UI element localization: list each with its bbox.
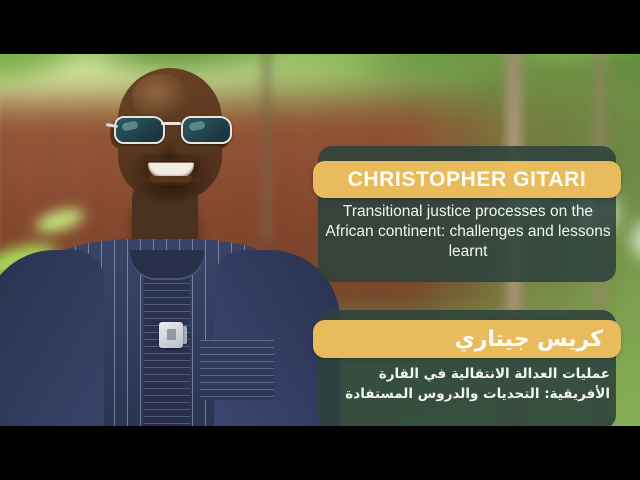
upper-lip: [148, 161, 194, 163]
speaker-name-bar-english: CHRISTOPHER GITARI: [313, 161, 621, 198]
letterbox-top-bar: [0, 0, 640, 54]
lens-glint-left: [121, 120, 138, 131]
microphone-grille: [167, 329, 176, 340]
shoulder-left: [0, 250, 104, 426]
pocket-ribbing: [200, 340, 274, 400]
video-frame[interactable]: CHRISTOPHER GITARI Transitional justice …: [0, 54, 640, 426]
chin-shadow: [136, 182, 206, 204]
chest-pocket: [200, 340, 274, 400]
glasses-bridge: [161, 122, 181, 125]
speaker-name-bar-arabic: كريس جيتاري: [313, 320, 621, 358]
speaker-portrait: [0, 54, 340, 426]
lapel-microphone-icon: [159, 322, 183, 348]
talk-title-english: Transitional justice processes on the Af…: [322, 202, 614, 262]
lens-left: [114, 116, 165, 144]
lens-glint-right: [188, 120, 205, 131]
video-player-frame: CHRISTOPHER GITARI Transitional justice …: [0, 0, 640, 480]
nose: [158, 140, 180, 162]
lens-right: [181, 116, 232, 144]
talk-title-arabic: عمليات العدالة الانتقالية في القارة الأف…: [326, 364, 610, 404]
sunglasses-icon: [112, 114, 230, 142]
letterbox-bottom-bar: [0, 426, 640, 480]
speaker-name-arabic: كريس جيتاري: [455, 327, 603, 352]
speaker-name-english: CHRISTOPHER GITARI: [348, 168, 587, 192]
